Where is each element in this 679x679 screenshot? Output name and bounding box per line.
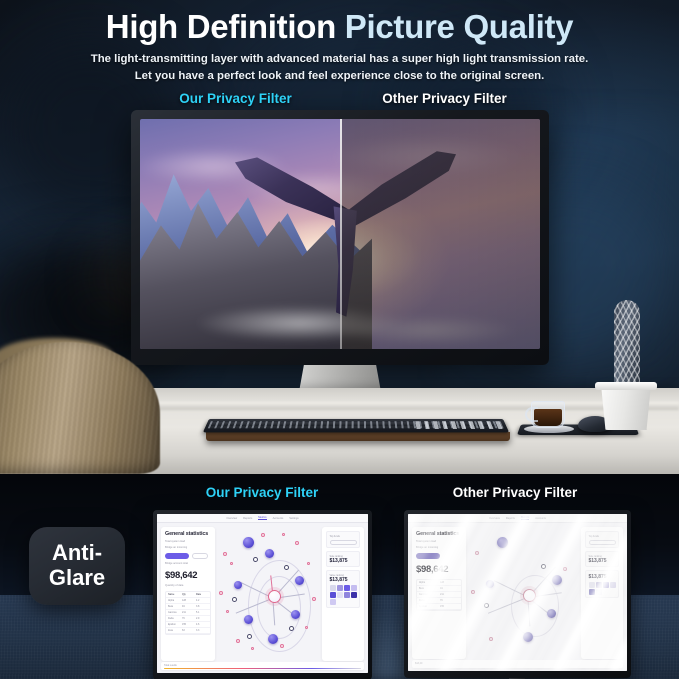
badge-line-1: Anti-: [52, 541, 102, 566]
heatmap-cell: [330, 599, 336, 605]
dashboard-ui: Overview Reports Metrics Accounts Settin…: [157, 514, 368, 673]
heatmap-cell: [351, 592, 357, 598]
dashboard-sub-label-1: Total system load: [165, 540, 211, 543]
nav-item-reports[interactable]: Reports: [243, 517, 252, 520]
heatmap-cell: [344, 592, 350, 598]
dashboard-nav: Overview Reports Metrics Accounts Settin…: [157, 514, 368, 523]
table-cell: 63: [182, 629, 194, 632]
plant-pot: [599, 386, 653, 430]
heatmap-cell: [337, 592, 343, 598]
graph-node[interactable]: [234, 581, 242, 589]
plant-pot-rim: [595, 382, 657, 390]
graph-node[interactable]: [265, 549, 274, 558]
right-card-pill[interactable]: [330, 540, 357, 545]
graph-dot: [230, 562, 233, 565]
table-cell: Beta: [168, 605, 180, 608]
dashboard-table-title: Quantity of data: [165, 584, 211, 587]
table-cell: Alpha: [168, 599, 180, 602]
footer-progress-line: [164, 668, 361, 670]
right-card: Value ranking $13,875: [326, 570, 360, 608]
table-header-rate: Rate: [196, 593, 208, 596]
nav-item-accounts[interactable]: Accounts: [273, 517, 284, 520]
subtitle-line-2: Let you have a perfect look and feel exp…: [0, 68, 679, 85]
table-cell: Gamma: [168, 611, 180, 614]
table-cell: 3.8: [196, 605, 208, 608]
dashboard-left-panel: General statistics Total system load Bri…: [161, 527, 215, 661]
graph-dot: [226, 610, 229, 613]
heatmap-cell: [344, 585, 350, 591]
glare-wash: [408, 514, 627, 671]
label-other-privacy-filter-bottom: Other Privacy Filter: [400, 485, 630, 500]
graph-node[interactable]: [295, 576, 304, 585]
table-cell: 4.6: [196, 623, 208, 626]
monitor-screen: [140, 119, 540, 349]
top-comparison-labels: Our Privacy Filter Other Privacy Filter: [131, 91, 549, 109]
page-subtitle: The light-transmitting layer with advanc…: [0, 45, 679, 85]
keyboard: [203, 419, 509, 432]
graph-dot: [236, 639, 240, 643]
label-other-privacy-filter-top: Other Privacy Filter: [340, 91, 549, 109]
table-cell: 5.1: [196, 611, 208, 614]
network-graph: [215, 528, 320, 660]
table-header-qty: Qty: [182, 593, 194, 596]
monitor-other-filter-screen: Overview Reports Metrics Accounts Genera…: [408, 514, 627, 671]
keyboard-wood-base: [206, 432, 510, 441]
table-cell: 4.2: [196, 599, 208, 602]
table-cell: 3.3: [196, 629, 208, 632]
graph-node[interactable]: [268, 634, 278, 644]
graph-dot-hollow: [253, 557, 258, 562]
graph-center-node[interactable]: [268, 590, 281, 603]
graph-dot: [219, 591, 223, 595]
table-cell: Zeta: [168, 629, 180, 632]
comparison-split-line: [340, 119, 342, 349]
graph-dot-hollow: [289, 626, 294, 631]
dashboard-amount-value: $98,642: [165, 570, 211, 581]
page-title: High Definition Picture Quality: [0, 0, 679, 45]
graph-dot-hollow: [232, 597, 237, 602]
graph-dot: [295, 541, 299, 545]
nav-item-settings[interactable]: Settings: [289, 517, 298, 520]
table-cell: 94: [182, 605, 194, 608]
graph-dot: [307, 562, 310, 565]
heatmap-cell: [330, 585, 336, 591]
heatmap: [330, 585, 357, 605]
coffee-cup-handle: [525, 407, 538, 422]
page-title-part2: Picture Quality: [345, 8, 573, 45]
graph-dot: [312, 597, 316, 601]
graph-ring: [248, 560, 311, 652]
label-our-privacy-filter-bottom: Our Privacy Filter: [152, 485, 372, 500]
table-header-name: Name: [168, 593, 180, 596]
table-cell: Delta: [168, 617, 180, 620]
graph-dot: [305, 626, 308, 629]
product-infographic: High Definition Picture Quality The ligh…: [0, 0, 679, 679]
dashboard-panel-title: General statistics: [165, 531, 211, 537]
other-filter-haze-overlay: [340, 119, 540, 349]
heatmap-cell: [337, 585, 343, 591]
dashboard-footer-bar: Total results: [161, 662, 364, 670]
nav-item-overview[interactable]: Overview: [226, 517, 237, 520]
table-cell: 76: [182, 617, 194, 620]
graph-dot: [261, 533, 265, 537]
table-cell: Epsilon: [168, 623, 180, 626]
table-row: Zeta 63 3.3: [166, 628, 210, 634]
anti-glare-badge: Anti- Glare: [29, 527, 125, 605]
graph-dot-hollow: [247, 634, 252, 639]
table-cell: 2.9: [196, 617, 208, 620]
primary-monitor: [131, 110, 549, 365]
right-card: Sale ranking $13,875: [326, 551, 360, 567]
right-card: Top funds: [326, 531, 360, 548]
anti-glare-section: Our Privacy Filter Other Privacy Filter …: [0, 474, 679, 679]
reset-button[interactable]: [192, 553, 208, 559]
graph-node[interactable]: [291, 610, 300, 619]
monitor-other-filter: Overview Reports Metrics Accounts Genera…: [404, 510, 631, 678]
heatmap-cell: [351, 585, 357, 591]
dashboard-amount-label: Bridge account total: [165, 562, 211, 565]
header: High Definition Picture Quality The ligh…: [0, 0, 679, 85]
page-title-part1: High Definition: [106, 8, 345, 45]
dashboard-sub-label-2: Bridge an incoming: [165, 546, 211, 549]
graph-dot: [223, 552, 227, 556]
dashboard-table: Name Qty Rate Alpha 128 4.2 Beta: [165, 591, 211, 635]
table-cell: 211: [182, 611, 194, 614]
bottom-comparison-labels: Our Privacy Filter Other Privacy Filter: [0, 485, 679, 503]
graph-dot: [282, 533, 285, 536]
footer-label: Total results: [164, 664, 361, 667]
label-our-privacy-filter-top: Our Privacy Filter: [131, 91, 340, 109]
cactus-plant: [614, 300, 640, 386]
table-cell: 128: [182, 599, 194, 602]
badge-line-2: Glare: [49, 566, 105, 591]
table-cell: 155: [182, 623, 194, 626]
right-card-value: $13,875: [330, 577, 357, 583]
right-card-value: $13,875: [330, 558, 357, 564]
analyze-button[interactable]: [165, 553, 189, 559]
dashboard-right-panel: Top funds Sale ranking $13,875 Value ran…: [322, 527, 364, 661]
keyboard-numpad: [415, 421, 503, 429]
subtitle-line-1: The light-transmitting layer with advanc…: [0, 51, 679, 68]
monitor-our-filter: Overview Reports Metrics Accounts Settin…: [153, 510, 372, 679]
graph-node[interactable]: [243, 537, 254, 548]
graph-dot: [251, 647, 254, 650]
heatmap-cell: [330, 592, 336, 598]
nav-item-metrics[interactable]: Metrics: [258, 516, 266, 520]
monitor-our-filter-screen: Overview Reports Metrics Accounts Settin…: [157, 514, 368, 673]
dashboard-button-row: [165, 553, 211, 559]
right-card-label: Top funds: [330, 535, 357, 538]
